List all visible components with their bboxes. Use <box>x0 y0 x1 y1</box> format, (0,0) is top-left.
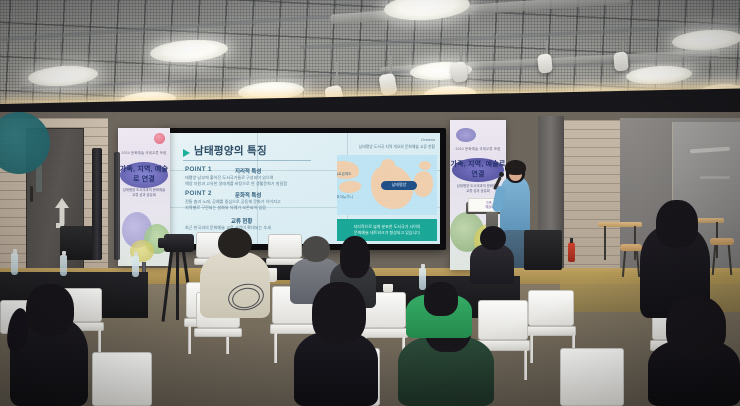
triangle-bullet <box>183 149 190 157</box>
door-handle[interactable] <box>30 186 33 202</box>
water-bottle <box>60 255 67 276</box>
high-table-leg <box>604 226 606 260</box>
spotlight-rod <box>336 62 338 88</box>
fire-extinguisher <box>568 242 575 262</box>
attendee-head <box>218 228 252 258</box>
map-side-label-2: 솔로몬제도 <box>337 172 352 177</box>
presenter-hair <box>505 160 526 175</box>
fire-extinguisher-nozzle <box>570 238 573 243</box>
track-spotlight <box>613 51 629 71</box>
track-spotlight <box>451 61 469 83</box>
map-landmass <box>381 159 395 171</box>
point-1-heading: 지리적 특성 <box>235 167 261 175</box>
pa-speaker-column <box>114 152 120 260</box>
banner-left-top-line: 2024 문화예술 국제교류 포럼 <box>118 150 170 155</box>
slide-header-note-1: Oceania <box>345 138 435 142</box>
banner-dot-decor <box>154 133 165 144</box>
white-folding-chair[interactable] <box>528 290 574 326</box>
white-folding-chair[interactable] <box>268 234 302 258</box>
point-2-body: 전통 춤과 노래, 공예를 중심으로 공동체 문화가 이어지고 지역별로 구전되… <box>185 199 325 212</box>
attendee-head <box>480 226 506 250</box>
presentation-room-photo: 남태평양의 특징 POINT 1 지리적 특성 태평양 남부에 흩어진 도서국가… <box>0 0 740 406</box>
presenter-torso <box>500 178 530 234</box>
video-camera-lens <box>158 238 167 248</box>
attendee-hair <box>340 236 370 278</box>
projection-screen[interactable]: 남태평양의 특징 POINT 1 지리적 특성 태평양 남부에 흩어진 도서국가… <box>169 133 440 244</box>
attendee-torso <box>470 244 514 284</box>
water-bottle-cap <box>421 264 425 268</box>
wooden-bar-stool <box>620 244 642 251</box>
title-underline <box>183 160 311 161</box>
map-region-label: 남태평양 <box>381 182 417 188</box>
water-bottle <box>419 268 426 290</box>
video-camera <box>164 234 194 252</box>
water-bottle <box>11 253 18 275</box>
water-bottle-cap <box>62 251 66 255</box>
map-landmass <box>339 181 361 193</box>
attendee-hair <box>26 284 74 336</box>
tripod-leg <box>176 250 179 320</box>
slide-map-caption-text: 지리적으로 넓게 분포한 도서국가 사이의 문화예술 네트워크가 형성되고 있습… <box>337 219 437 236</box>
attendee-hair <box>656 200 698 248</box>
glass-reflection-strip <box>700 176 730 179</box>
attendee-hair <box>424 282 458 316</box>
point-2-label: POINT 2 <box>185 190 212 197</box>
point-3-body: 최근 한국과의 문화예술 교류 사업이 확대되는 추세 <box>185 225 315 231</box>
slide-map: 남태평양 파푸아뉴기니 솔로몬제도 <box>337 155 437 215</box>
attendee-head <box>302 236 330 262</box>
track-spotlight <box>537 53 553 73</box>
map-landmass <box>419 161 431 170</box>
water-bottle <box>132 256 139 277</box>
pa-speaker-column <box>92 148 102 260</box>
white-folding-chair[interactable] <box>560 348 624 406</box>
attendee-hair <box>666 296 726 358</box>
point-3-heading: 교류 현황 <box>231 217 252 225</box>
banner-left-title: 가족, 지역, 예술로 연결 <box>118 164 170 184</box>
pa-speaker <box>524 230 562 270</box>
white-folding-chair[interactable] <box>478 300 528 340</box>
attendee-hair <box>312 282 366 344</box>
point-2-heading: 문화적 특성 <box>235 191 261 199</box>
banner-right-title: 가족, 지역, 예술로 연결 <box>450 159 506 179</box>
slide-title: 남태평양의 특징 <box>194 143 324 158</box>
microphone-head <box>499 172 504 177</box>
banner-left-subtitle-2: 교류 성과 공유회 <box>118 193 170 198</box>
white-folding-chair[interactable] <box>92 352 152 406</box>
banner-blob-decor <box>456 128 476 142</box>
banner-right-top-line: 2024 문화예술 국제교류 포럼 <box>450 146 506 151</box>
water-bottle-cap <box>134 252 138 256</box>
point-1-body: 태평양 남부에 흩어진 도서국가들로 구성되어 있으며 해양 자원과 고유한 생… <box>185 175 325 188</box>
point-1-label: POINT 1 <box>185 166 212 173</box>
slide-header-note-2: 남태평양 도서국 지역 개요와 문화예술 교류 현황 <box>335 145 435 150</box>
water-bottle-cap <box>13 249 17 253</box>
map-side-label-1: 파푸아뉴기니 <box>337 195 353 200</box>
wooden-bar-stool <box>710 238 734 245</box>
